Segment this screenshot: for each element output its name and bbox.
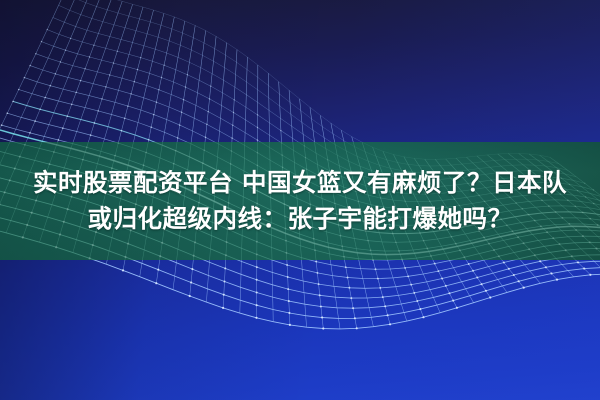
headline-line-1: 实时股票配资平台 中国女篮又有麻烦了？日本队	[33, 165, 567, 201]
banner-image: 实时股票配资平台 中国女篮又有麻烦了？日本队 或归化超级内线：张子宇能打爆她吗？	[0, 0, 600, 400]
headline-text-block: 实时股票配资平台 中国女篮又有麻烦了？日本队 或归化超级内线：张子宇能打爆她吗？	[0, 142, 600, 260]
headline-line-2: 或归化超级内线：张子宇能打爆她吗？	[88, 201, 513, 237]
